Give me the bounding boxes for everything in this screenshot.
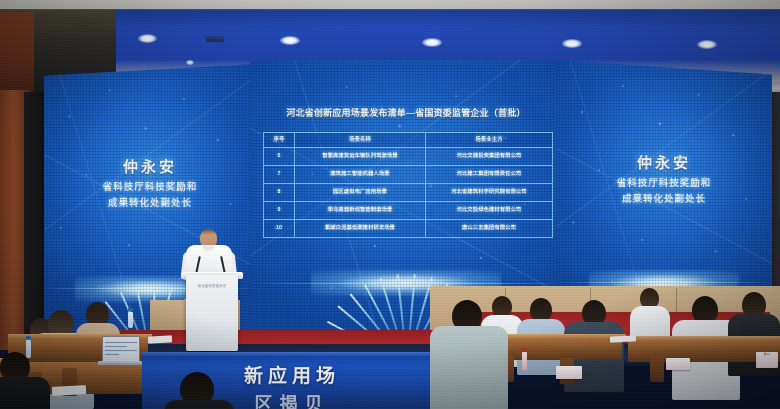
table-row: 10 氯碱白泥基低碳建材研发场景 唐山三友集团有限公司 [264, 220, 553, 238]
speaker-name-left: 仲永安 [44, 156, 256, 177]
cell-index: 9 [264, 202, 295, 220]
ceiling-wood-trim [0, 12, 34, 96]
audience-desk-top [628, 336, 780, 341]
conference-hall-photo: 仲永安 省科技厅科技奖励和 成果转化处副处长 河北省创新应用场景发布清单—省国资… [0, 0, 780, 409]
laptop-base [98, 361, 142, 365]
table-row: 7 建筑施工智能机器人场景 河北建工集团有限责任公司 [264, 166, 553, 184]
cell-index: 10 [264, 220, 295, 238]
name-card [556, 366, 582, 379]
speaker-name-right: 仲永安 [556, 152, 772, 173]
cell-scene-name: 园区虚拟电厂应用场景 [295, 184, 426, 202]
speaker-title-right-line2: 成果转化处副处长 [556, 193, 772, 206]
cell-owner: 河北交投绿色建材有限公司 [426, 202, 553, 220]
cell-index: 7 [264, 166, 295, 184]
name-card [666, 358, 690, 370]
horizon-line [250, 283, 562, 284]
water-bottle-icon [522, 352, 527, 370]
table-row: 8 园区虚拟电厂应用场景 河北省建筑科学研究院有限公司 [264, 184, 553, 202]
cell-owner: 河北省建筑科学研究院有限公司 [426, 184, 553, 202]
downlight-icon [186, 60, 194, 65]
column-header-owner: 场景业主方 [426, 133, 553, 148]
cell-owner: 河北建工集团有限责任公司 [426, 166, 553, 184]
downlight-icon [562, 39, 582, 48]
cell-index: 6 [264, 148, 295, 166]
speaker-title-left-line2: 成果转化处副处长 [44, 197, 256, 210]
slide-title: 河北省创新应用场景发布清单—省国资委监管企业（首批） [250, 106, 562, 119]
bottle-cap [128, 308, 133, 311]
podium-logo-text: 河北省科学技术厅 [186, 283, 238, 288]
column-header-index: 序号 [264, 133, 295, 148]
audience-chair [650, 356, 664, 382]
table-row: 9 荣乌高速新线智能制造场景 河北交投绿色建材有限公司 [264, 202, 553, 220]
cell-owner: 河北交通投资集团有限公司 [426, 148, 553, 166]
name-card-text: 朱以 [756, 352, 778, 357]
cell-scene-name: 荣乌高速新线智能制造场景 [295, 202, 426, 220]
cell-scene-name: 建筑施工智能机器人场景 [295, 166, 426, 184]
cell-owner: 唐山三友集团有限公司 [426, 220, 553, 238]
scene-list-table: 序号 场景名称 场景业主方 6 智慧高速货运车辆队列驾驶场景 河北交通投资集团有… [263, 132, 553, 238]
person-body [0, 377, 50, 409]
name-card: 朱以 [756, 352, 778, 368]
water-bottle-icon [26, 340, 31, 358]
downlight-icon [138, 34, 157, 43]
downlight-icon [697, 40, 717, 49]
downlight-icon [422, 38, 442, 47]
laptop-icon [102, 336, 140, 364]
table-header-row: 序号 场景名称 场景业主方 [264, 133, 553, 148]
ceiling-vent [206, 36, 224, 42]
person-body [164, 400, 234, 409]
cell-index: 8 [264, 184, 295, 202]
horizon-line [556, 282, 772, 283]
desk-paper [148, 335, 172, 343]
speaker-title-left-line1: 省科技厅科技奖励和 [44, 181, 256, 194]
cell-scene-name: 氯碱白泥基低碳建材研发场景 [295, 220, 426, 238]
cell-scene-name: 智慧高速货运车辆队列驾驶场景 [295, 148, 426, 166]
person-body [430, 326, 508, 409]
desk-paper [52, 385, 86, 396]
water-bottle-icon [128, 312, 133, 328]
table-row: 6 智慧高速货运车辆队列驾驶场景 河北交通投资集团有限公司 [264, 148, 553, 166]
podium: 河北省科学技术厅 [186, 275, 238, 351]
downlight-icon [280, 36, 300, 45]
bottle-cap [522, 348, 527, 351]
bottle-cap [26, 336, 31, 339]
column-header-scene-name: 场景名称 [295, 133, 426, 148]
speaker-title-right-line1: 省科技厅科技奖励和 [556, 177, 772, 190]
